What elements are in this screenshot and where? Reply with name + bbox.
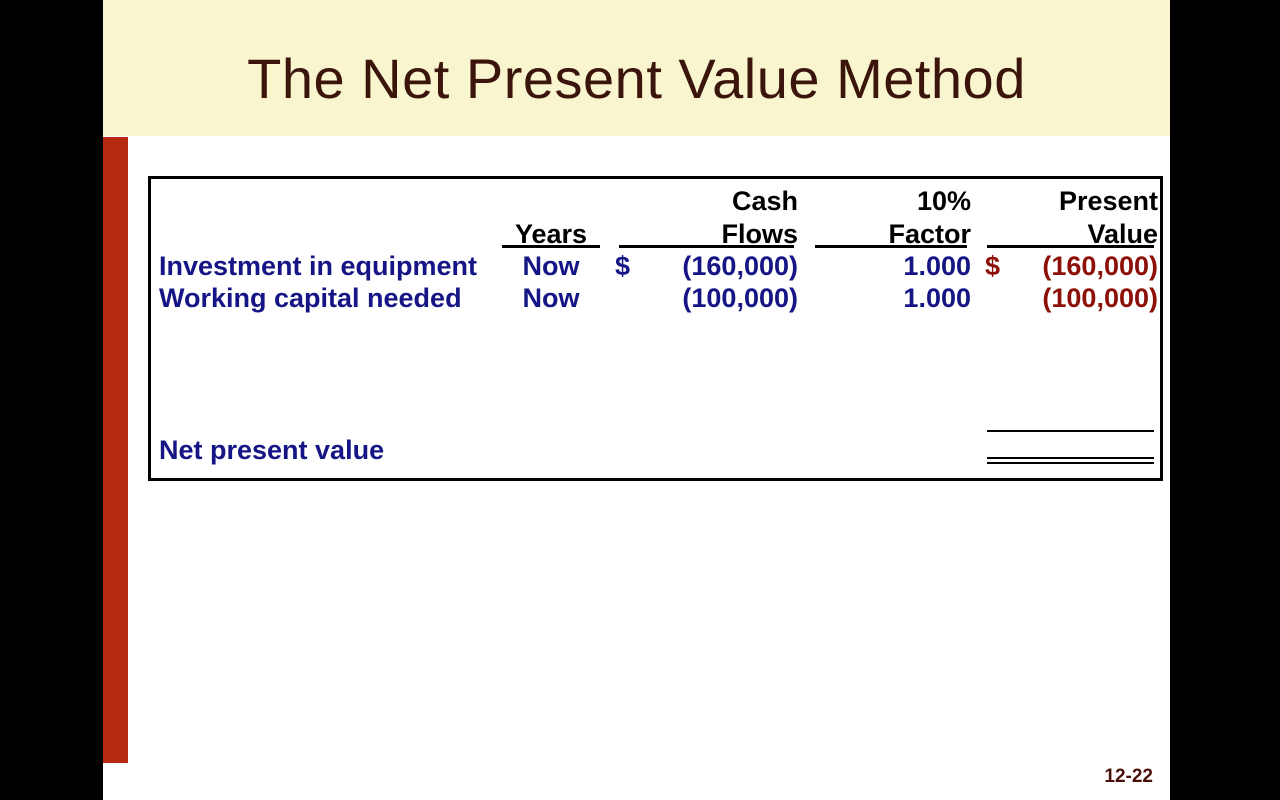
row-cash-flows: $ (160,000) <box>613 249 798 283</box>
table-row: Working capital needed Now (100,000) 1.0… <box>151 281 1160 315</box>
slide-canvas: The Net Present Value Method Cash 10% Pr… <box>103 0 1170 800</box>
total-label: Net present value <box>159 433 489 467</box>
row-label: Investment in equipment <box>159 249 489 283</box>
row-present-value-currency: $ <box>983 249 1000 283</box>
row-cash-flows-value: (160,000) <box>682 249 798 283</box>
header-factor-top: 10% <box>811 186 971 216</box>
left-accent-bar <box>103 137 128 763</box>
table-row: Investment in equipment Now $ (160,000) … <box>151 249 1160 283</box>
row-years: Now <box>496 249 606 283</box>
page-title: The Net Present Value Method <box>103 0 1170 136</box>
total-rule-double <box>987 457 1154 464</box>
header-rule-years <box>502 245 600 248</box>
row-cash-flows: (100,000) <box>613 281 798 315</box>
header-present-value-top: Present <box>983 186 1158 216</box>
slide-stage: The Net Present Value Method Cash 10% Pr… <box>0 0 1280 800</box>
header-rule-present-value <box>987 245 1154 248</box>
slide-number: 12-22 <box>1104 766 1153 788</box>
table-header-row-top: Cash 10% Present <box>151 186 1160 218</box>
header-cash-flows-top: Cash <box>613 186 798 216</box>
row-label: Working capital needed <box>159 281 489 315</box>
header-rule-factor <box>815 245 967 248</box>
row-present-value: (100,000) <box>983 281 1158 315</box>
row-cash-flows-currency: $ <box>613 249 630 283</box>
title-band: The Net Present Value Method <box>103 0 1170 136</box>
npv-table: Cash 10% Present Years Flows Factor Valu… <box>148 176 1163 481</box>
row-years: Now <box>496 281 606 315</box>
row-present-value: $ (160,000) <box>983 249 1158 283</box>
row-factor: 1.000 <box>811 249 971 283</box>
row-present-value-value: (100,000) <box>1042 281 1158 315</box>
row-present-value-value: (160,000) <box>1042 249 1158 283</box>
row-cash-flows-value: (100,000) <box>682 281 798 315</box>
total-rule-single <box>987 430 1154 432</box>
header-rule-cash-flows <box>619 245 794 248</box>
row-factor: 1.000 <box>811 281 971 315</box>
